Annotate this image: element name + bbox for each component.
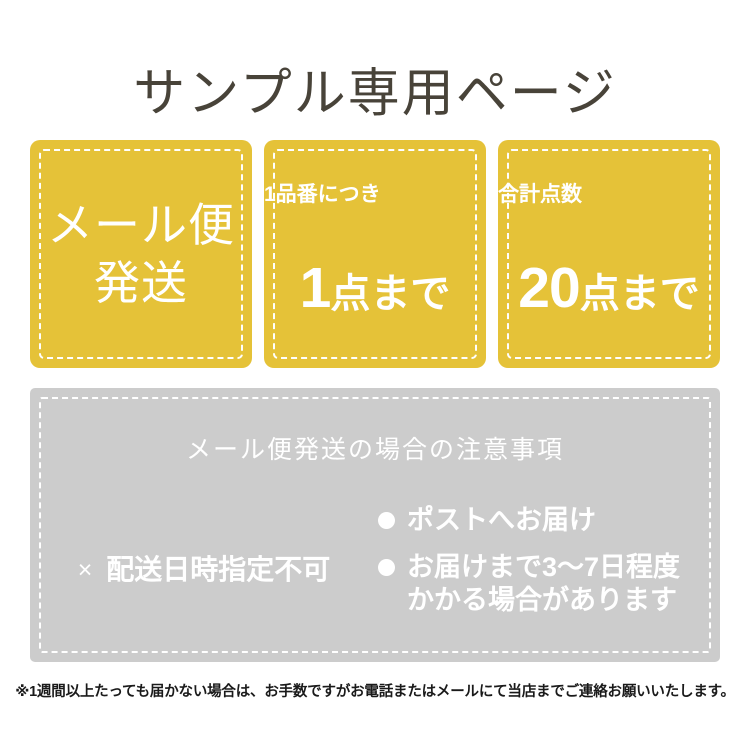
per-item-limit-number: 1: [300, 258, 331, 318]
bullet-dot-icon: [378, 512, 395, 529]
list-item: お届けまで3〜7日程度 かかる場合があります: [378, 551, 720, 617]
per-item-limit-value: 1 点まで: [264, 258, 486, 324]
notice-bullet-list: ポストへお届け お届けまで3〜7日程度 かかる場合があります: [378, 500, 720, 617]
no-date-designation-item: × 配送日時指定不可: [78, 553, 331, 587]
per-item-limit-caption: 1品番につき: [264, 182, 486, 208]
total-limit-unit: 点まで: [580, 264, 700, 324]
sample-shipping-banner: サンプル専用ページ メール便 発送 1品番につき 1 点まで 合計点数 20 点…: [0, 0, 750, 750]
dashed-frame-decoration: [273, 149, 477, 359]
mail-delivery-line-1: メール便: [30, 196, 252, 254]
total-limit-value: 20 点まで: [498, 258, 720, 324]
feature-box-mail-delivery: メール便 発送: [30, 140, 252, 368]
bullet-text-post-delivery: ポストへお届け: [407, 504, 596, 537]
notice-panel: メール便発送の場合の注意事項 × 配送日時指定不可 ポストへお届け お届けまで3…: [30, 388, 720, 662]
feature-box-row: メール便 発送 1品番につき 1 点まで 合計点数 20 点まで: [30, 140, 720, 368]
notice-heading: メール便発送の場合の注意事項: [30, 434, 720, 466]
notice-left-column: × 配送日時指定不可: [30, 500, 378, 640]
bullet-dot-icon: [378, 559, 395, 576]
page-title: サンプル専用ページ: [0, 63, 750, 125]
per-item-limit-unit: 点まで: [330, 264, 450, 324]
feature-box-total-limit: 合計点数 20 点まで: [498, 140, 720, 368]
list-item: ポストへお届け: [378, 504, 720, 537]
dashed-frame-decoration: [507, 149, 711, 359]
bullet-text-delivery-time: お届けまで3〜7日程度 かかる場合があります: [407, 551, 680, 617]
feature-box-content: メール便 発送: [30, 196, 252, 312]
mail-delivery-line-2: 発送: [30, 254, 252, 312]
cross-mark-icon: ×: [78, 553, 93, 587]
feature-box-per-item-limit: 1品番につき 1 点まで: [264, 140, 486, 368]
footer-note: ※1週間以上たっても届かない場合は、お手数ですがお電話またはメールにて当店までご…: [0, 682, 750, 702]
no-date-designation-label: 配送日時指定不可: [106, 553, 330, 587]
total-limit-caption: 合計点数: [498, 182, 720, 208]
notice-body: × 配送日時指定不可 ポストへお届け お届けまで3〜7日程度 かかる場合がありま…: [30, 500, 720, 650]
total-limit-number: 20: [518, 258, 579, 318]
